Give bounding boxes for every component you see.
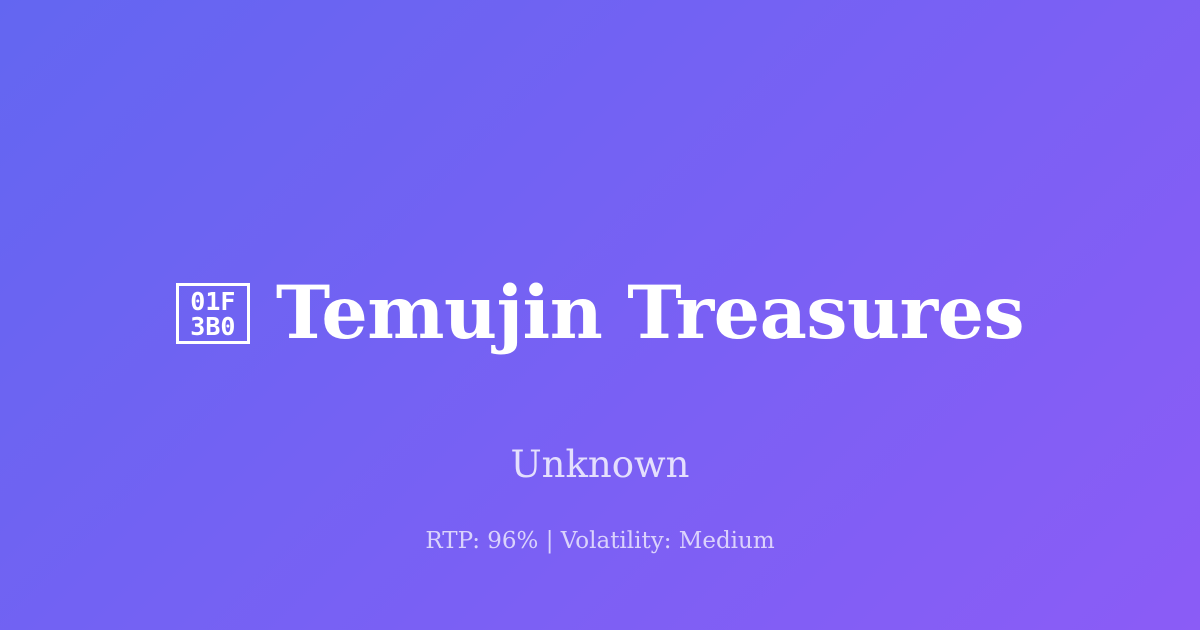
slot-machine-icon: 01F 3B0 — [176, 283, 250, 344]
tofu-hex-bottom: 3B0 — [190, 314, 235, 339]
page-title: Temujin Treasures — [276, 277, 1024, 350]
og-share-card: 01F 3B0 Temujin Treasures Unknown RTP: 9… — [0, 0, 1200, 630]
tofu-hex-top: 01F — [190, 289, 235, 314]
game-meta-line: RTP: 96% | Volatility: Medium — [0, 530, 1200, 553]
hero-block: 01F 3B0 Temujin Treasures Unknown — [0, 228, 1200, 483]
subtitle: Unknown — [510, 446, 689, 483]
title-row: 01F 3B0 Temujin Treasures — [176, 228, 1024, 399]
